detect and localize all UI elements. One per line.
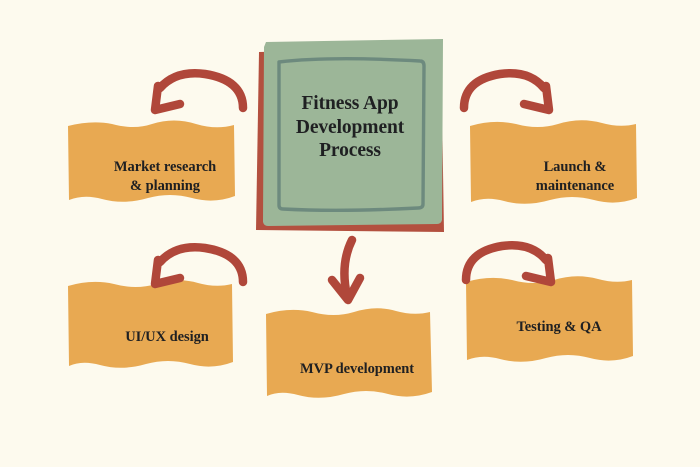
- step-label-line-1: UI/UX design: [84, 328, 250, 347]
- arrow-to-testing: [466, 245, 551, 282]
- step-launch-maintenance-label: Launch & maintenance: [494, 158, 656, 196]
- arrow-to-ui-ux: [155, 247, 243, 284]
- center-title-line-2: Development: [256, 116, 444, 140]
- arrow-to-launch: [464, 73, 549, 110]
- step-label-line-1: Market research: [82, 158, 248, 177]
- center-title-line-3: Process: [256, 139, 444, 163]
- step-label-line-2: maintenance: [494, 177, 656, 196]
- step-testing-qa-label: Testing & QA: [476, 318, 642, 337]
- step-testing-qa: Testing & QA: [466, 278, 634, 362]
- center-title-line-1: Fitness App: [256, 92, 444, 116]
- step-launch-maintenance: Launch & maintenance: [470, 122, 638, 204]
- arrow-to-market-research: [155, 73, 243, 110]
- infographic-canvas: Fitness App Development Process Market r…: [0, 0, 700, 467]
- step-mvp-development-label: MVP development: [272, 360, 442, 379]
- step-label-line-1: Launch &: [494, 158, 656, 177]
- step-ui-ux-design-label: UI/UX design: [84, 328, 250, 347]
- step-label-line-1: MVP development: [272, 360, 442, 379]
- step-market-research-planning: Market research & planning: [68, 122, 236, 204]
- step-market-research-planning-label: Market research & planning: [82, 158, 248, 196]
- step-label-line-2: & planning: [82, 177, 248, 196]
- arrow-to-mvp: [332, 240, 360, 300]
- step-label-line-1: Testing & QA: [476, 318, 642, 337]
- center-card: Fitness App Development Process: [256, 40, 444, 234]
- step-ui-ux-design: UI/UX design: [68, 282, 236, 370]
- step-mvp-development: MVP development: [266, 310, 436, 398]
- center-card-title: Fitness App Development Process: [256, 92, 444, 163]
